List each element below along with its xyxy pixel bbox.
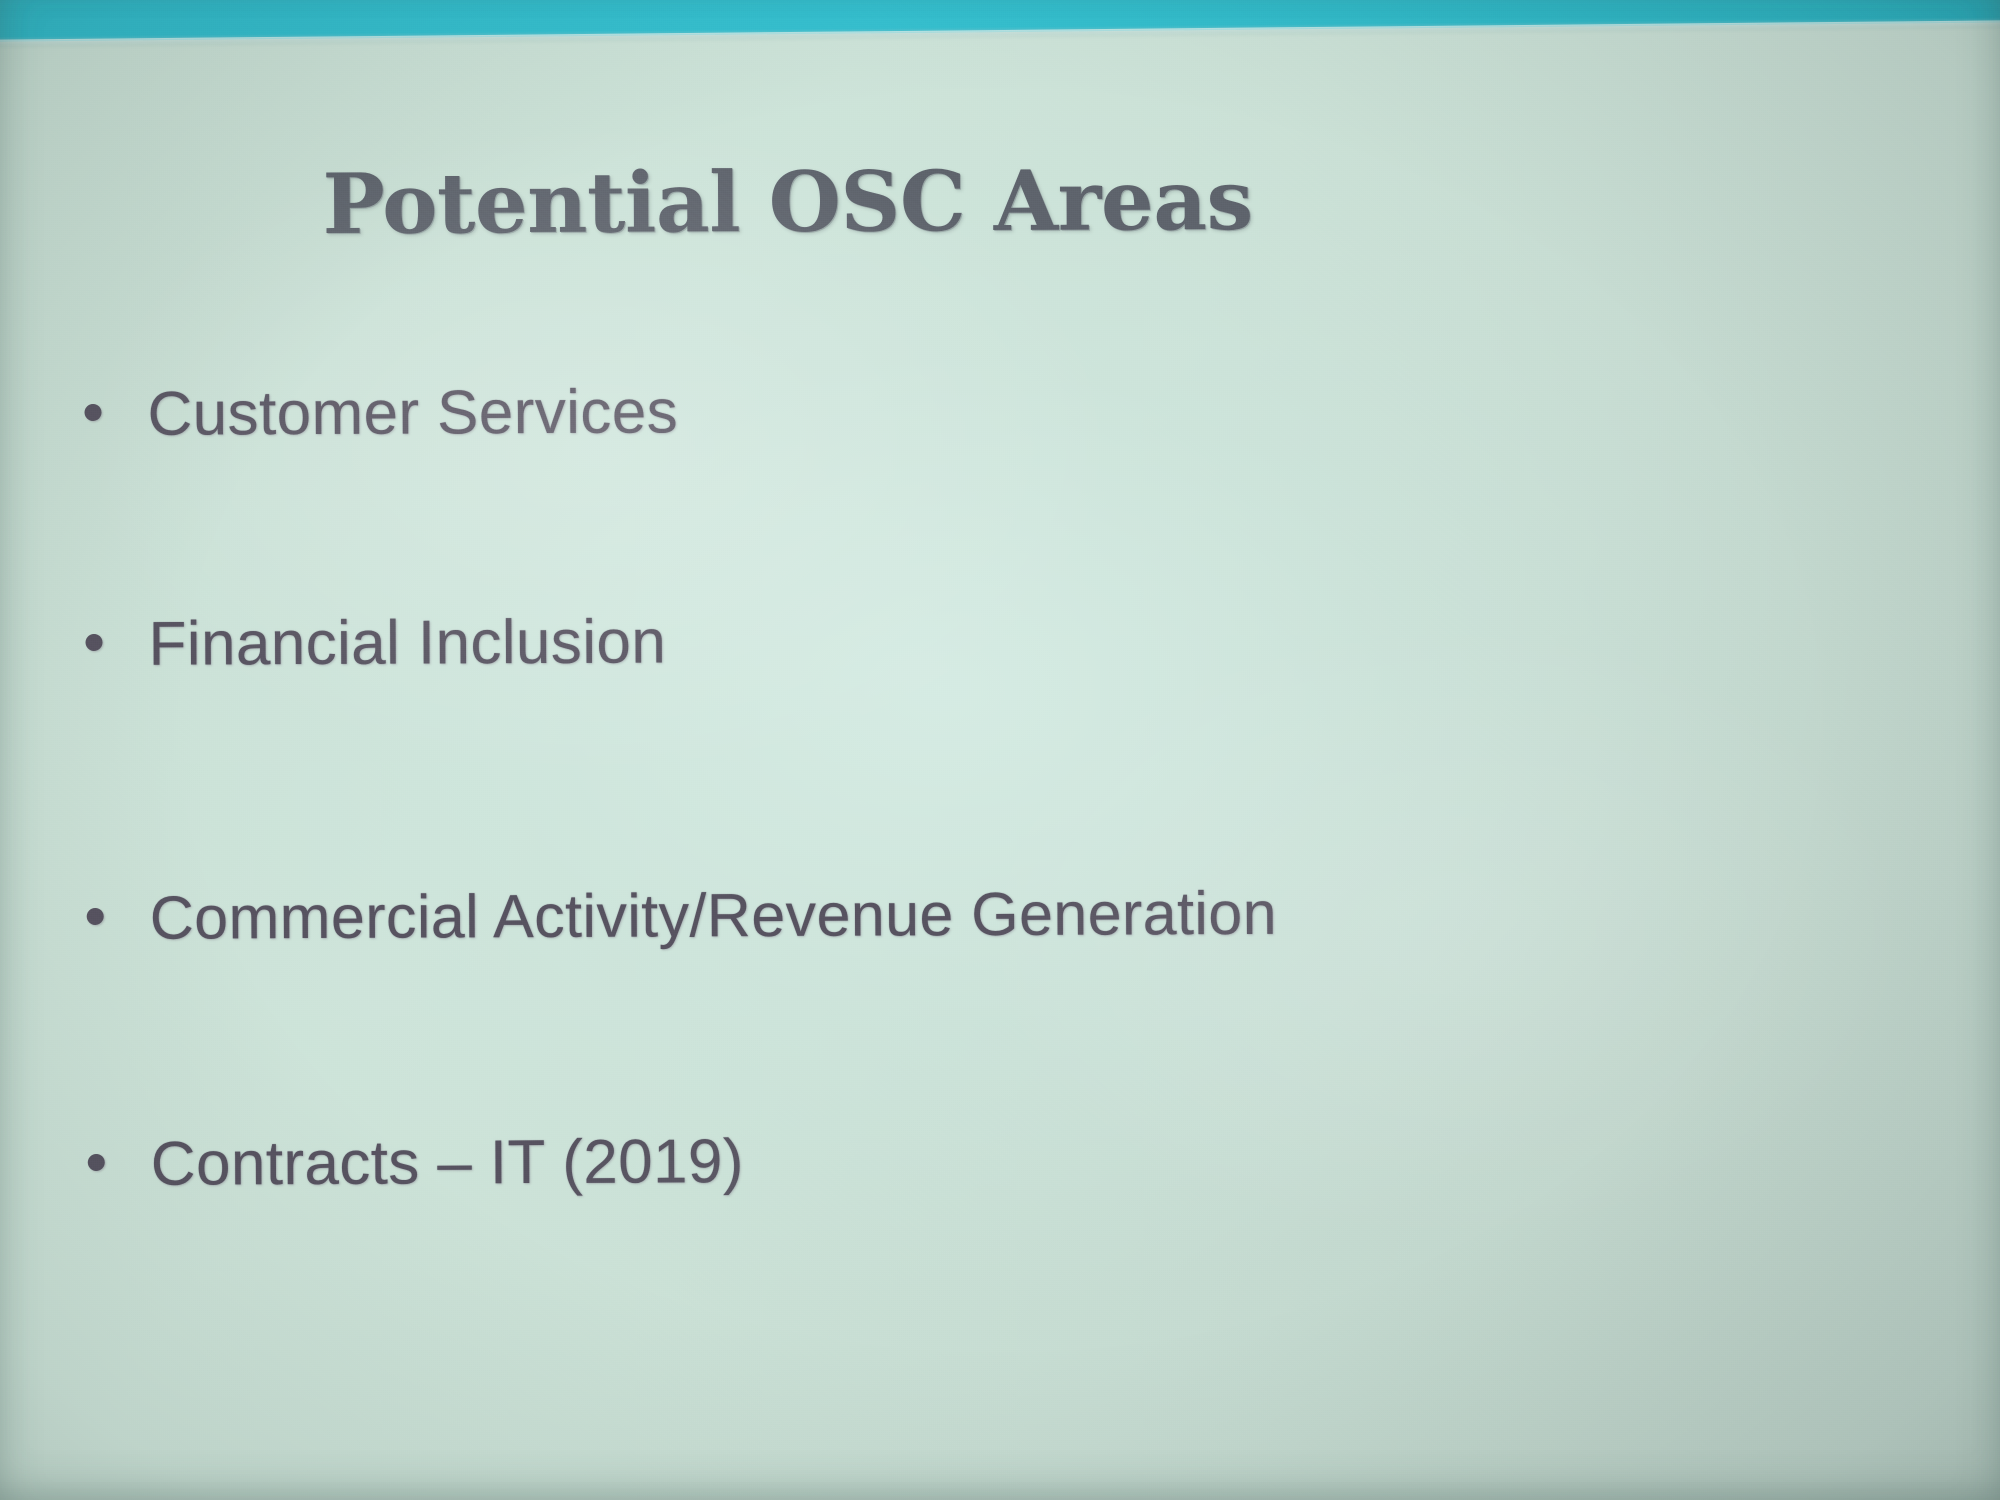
- list-item: Commercial Activity/Revenue Generation: [87, 881, 1278, 950]
- bullet-text: Commercial Activity/Revenue Generation: [150, 881, 1278, 950]
- bullet-text: Customer Services: [147, 379, 678, 446]
- slide-content: Potential OSC Areas Customer Services Fi…: [0, 0, 2000, 1500]
- bullet-dot-icon: [88, 1154, 105, 1171]
- list-item: Financial Inclusion: [85, 609, 666, 677]
- bullet-dot-icon: [87, 908, 104, 925]
- presentation-slide-photo: Potential OSC Areas Customer Services Fi…: [0, 0, 2000, 1500]
- bullet-text: Contracts – IT (2019): [151, 1129, 744, 1197]
- bullet-dot-icon: [84, 404, 101, 421]
- list-item: Contracts – IT (2019): [88, 1129, 744, 1197]
- bullet-dot-icon: [85, 634, 102, 651]
- slide-title: Potential OSC Areas: [0, 149, 1578, 254]
- bullet-text: Financial Inclusion: [148, 609, 666, 676]
- list-item: Customer Services: [84, 379, 678, 447]
